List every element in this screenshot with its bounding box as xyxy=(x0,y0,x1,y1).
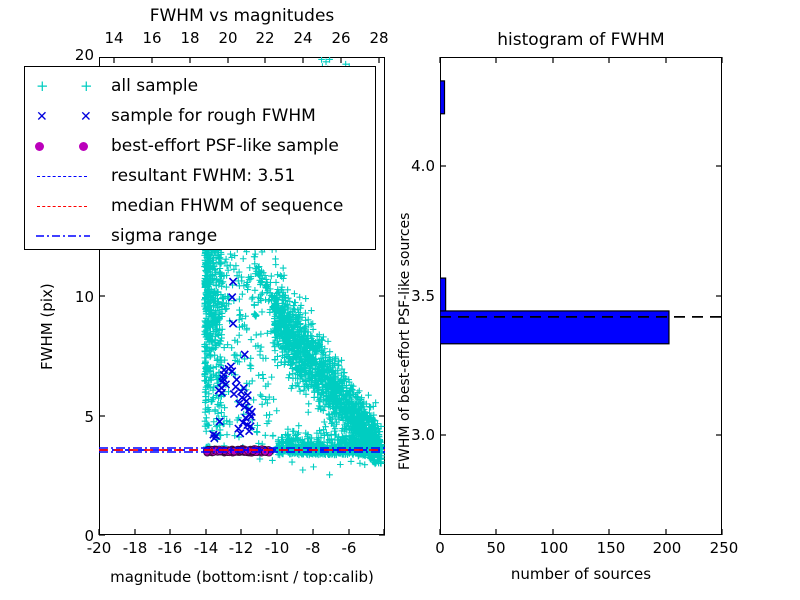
left-xtick-label-7: -6 xyxy=(335,539,363,557)
left-ytick-label-3: 20 xyxy=(62,46,94,64)
right-ytick-label-2: 4.0 xyxy=(399,157,435,175)
left-xtick-label-6: -8 xyxy=(299,539,327,557)
left-plot-xlabel: magnitude (bottom:isnt / top:calib) xyxy=(99,568,385,586)
legend-key-all-sample: + + xyxy=(25,71,111,101)
right-xtick-label-0: 0 xyxy=(426,539,454,557)
left-xtick-label-3: -14 xyxy=(188,539,224,557)
legend-key-sigma-range xyxy=(25,221,111,251)
left-ytick-label-0: 0 xyxy=(72,527,94,545)
left-top-xtick-label-1: 16 xyxy=(138,29,166,47)
legend-item-all-sample[interactable]: + + all sample xyxy=(25,71,375,101)
legend-item-resultant-fwhm[interactable]: resultant FWHM: 3.51 xyxy=(25,161,375,191)
dashed-line-icon xyxy=(37,176,87,177)
left-ytick-label-2: 10 xyxy=(62,288,94,306)
plus-icon: + xyxy=(80,79,93,94)
left-top-xtick-label-5: 24 xyxy=(289,29,317,47)
right-xtick-label-3: 150 xyxy=(593,539,629,557)
dashed-line-icon xyxy=(37,206,87,207)
right-xtick-label-2: 100 xyxy=(536,539,572,557)
right-ytick-label-1: 3.5 xyxy=(399,287,435,305)
legend-label-median-fwhm: median FHWM of sequence xyxy=(111,196,343,216)
plus-icon: + xyxy=(36,79,49,94)
left-xtick-label-5: -10 xyxy=(259,539,295,557)
legend-label-sigma-range: sigma range xyxy=(111,226,217,246)
left-plot-title: FWHM vs magnitudes xyxy=(99,6,385,26)
legend-label-all-sample: all sample xyxy=(111,76,198,96)
figure-canvas: FWHM vs magnitudes magnitude (bottom:isn… xyxy=(0,0,800,600)
left-top-xtick-label-3: 20 xyxy=(214,29,242,47)
legend-label-rough-fwhm: sample for rough FWHM xyxy=(111,106,316,126)
legend-item-psf-like[interactable]: best-effort PSF-like sample xyxy=(25,131,375,161)
legend-key-median-fwhm xyxy=(25,191,111,221)
legend-key-resultant-fwhm xyxy=(25,161,111,191)
left-xtick-label-2: -16 xyxy=(152,539,188,557)
right-xtick-label-5: 250 xyxy=(706,539,742,557)
left-top-xtick-label-0: 14 xyxy=(100,29,128,47)
cross-icon: ✕ xyxy=(80,110,92,124)
left-plot-ylabel: FWHM (pix) xyxy=(38,283,56,370)
legend-key-psf-like xyxy=(25,131,111,161)
right-xtick-label-4: 200 xyxy=(649,539,685,557)
legend-label-resultant-fwhm: resultant FWHM: 3.51 xyxy=(111,166,295,186)
right-plot-xlabel: number of sources xyxy=(440,565,722,583)
right-xtick-label-1: 50 xyxy=(482,539,510,557)
left-top-xtick-label-4: 22 xyxy=(251,29,279,47)
legend-item-rough-fwhm[interactable]: ✕ ✕ sample for rough FWHM xyxy=(25,101,375,131)
legend-label-psf-like: best-effort PSF-like sample xyxy=(111,136,339,156)
filled-circle-icon xyxy=(79,142,88,151)
right-ytick-label-0: 3.0 xyxy=(399,426,435,444)
left-xtick-label-4: -12 xyxy=(223,539,259,557)
right-plot-title: histogram of FWHM xyxy=(440,30,722,50)
filled-circle-icon xyxy=(35,142,44,151)
plot-legend: + + all sample ✕ ✕ sample for rough FWHM… xyxy=(24,66,376,250)
right-plot-axes xyxy=(440,57,722,535)
legend-item-median-fwhm[interactable]: median FHWM of sequence xyxy=(25,191,375,221)
left-top-xtick-label-6: 26 xyxy=(327,29,355,47)
dashdot-line-icon xyxy=(34,226,94,246)
legend-item-sigma-range[interactable]: sigma range xyxy=(25,221,375,251)
left-ytick-label-1: 5 xyxy=(72,408,94,426)
left-xtick-label-1: -18 xyxy=(117,539,153,557)
cross-icon: ✕ xyxy=(36,110,48,124)
left-top-xtick-label-7: 28 xyxy=(365,29,393,47)
legend-key-rough-fwhm: ✕ ✕ xyxy=(25,101,111,131)
left-top-xtick-label-2: 18 xyxy=(176,29,204,47)
